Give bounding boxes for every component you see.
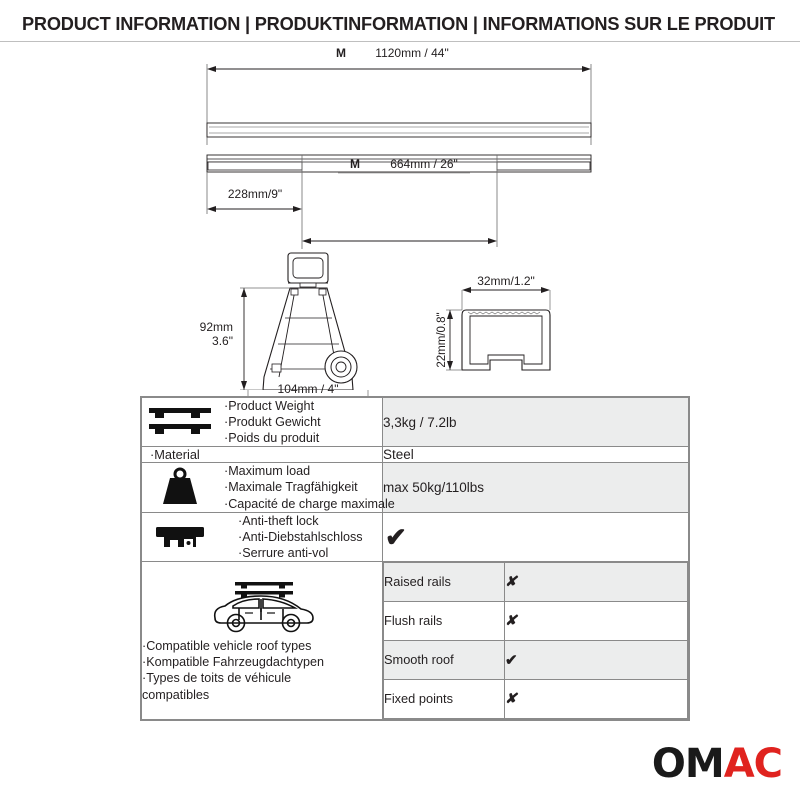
roof-type-mark: ✘ bbox=[505, 562, 688, 601]
table-row-roof-types: ·Compatible vehicle roof types ·Kompatib… bbox=[142, 561, 689, 719]
page-title: PRODUCT INFORMATION | PRODUKTINFORMATION… bbox=[22, 14, 775, 35]
label-line-fr: ·Serrure anti-vol bbox=[238, 545, 363, 561]
row-value-product-weight: 3,3kg / 7.2lb bbox=[383, 398, 689, 447]
roof-type-name: Smooth roof bbox=[384, 640, 505, 679]
roof-type-mark: ✔ bbox=[505, 640, 688, 679]
roof-type-row-fixed-points: Fixed points ✘ bbox=[384, 679, 688, 718]
technical-drawing-area: M 1120mm / 44" 228mm/9" M 664mm / 26" 92… bbox=[0, 42, 800, 390]
cross-icon: ✘ bbox=[505, 690, 517, 706]
label-text-group: ·Maximum load ·Maximale Tragfähigkeit ·C… bbox=[224, 463, 395, 511]
label-line-fr: ·Capacité de charge maximale bbox=[224, 496, 395, 512]
label-line-fr: ·Poids du produit bbox=[224, 430, 321, 446]
bar-length-prefix: M bbox=[336, 46, 346, 60]
roof-type-row-smooth-roof: Smooth roof ✔ bbox=[384, 640, 688, 679]
specification-table: ·Product Weight ·Produkt Gewicht ·Poids … bbox=[140, 396, 690, 721]
table-row: ·Anti-theft lock ·Anti-Diebstahlschloss … bbox=[142, 512, 689, 561]
crossbars-icon bbox=[142, 405, 218, 439]
roof-types-subtable-cell: Raised rails ✘ Flush rails ✘ bbox=[383, 561, 689, 719]
logo-text-ac: AC bbox=[724, 741, 782, 787]
label-line-fr: ·Types de toits de véhicule bbox=[142, 670, 382, 686]
label-line-de: ·Produkt Gewicht bbox=[224, 414, 321, 430]
roof-type-row-raised-rails: Raised rails ✘ bbox=[384, 562, 688, 601]
label-line-de: ·Kompatible Fahrzeugdachtypen bbox=[142, 654, 382, 670]
foot-offset-value: 228mm/9" bbox=[228, 187, 282, 201]
foot-height-line1: 92mm bbox=[200, 320, 233, 334]
roof-type-row-flush-rails: Flush rails ✘ bbox=[384, 601, 688, 640]
roof-type-mark: ✘ bbox=[505, 601, 688, 640]
label-line-material: ·Material bbox=[142, 447, 382, 462]
lock-icon bbox=[142, 522, 218, 552]
roof-types-label-group: ·Compatible vehicle roof types ·Kompatib… bbox=[142, 638, 382, 703]
row-value-material: Steel bbox=[383, 447, 689, 463]
header-bar: PRODUCT INFORMATION | PRODUKTINFORMATION… bbox=[0, 0, 800, 42]
bar-length-value: 1120mm / 44" bbox=[375, 46, 448, 60]
table-row: ·Maximum load ·Maximale Tragfähigkeit ·C… bbox=[142, 463, 689, 512]
label-line-en: ·Product Weight bbox=[224, 398, 321, 414]
cross-icon: ✘ bbox=[505, 573, 517, 589]
row-label-anti-theft-lock: ·Anti-theft lock ·Anti-Diebstahlschloss … bbox=[142, 512, 383, 561]
table-row: ·Material Steel bbox=[142, 447, 689, 463]
row-label-product-weight: ·Product Weight ·Produkt Gewicht ·Poids … bbox=[142, 398, 383, 447]
row-label-maximum-load: ·Maximum load ·Maximale Tragfähigkeit ·C… bbox=[142, 463, 383, 512]
label-text-group: ·Product Weight ·Produkt Gewicht ·Poids … bbox=[224, 398, 321, 446]
label-line-fr-cont: compatibles bbox=[142, 687, 382, 703]
foot-width-value: 104mm / 4" bbox=[278, 382, 339, 396]
table-row: ·Product Weight ·Produkt Gewicht ·Poids … bbox=[142, 398, 689, 447]
profile-width-value: 32mm/1.2" bbox=[477, 274, 535, 288]
row-label-roof-types: ·Compatible vehicle roof types ·Kompatib… bbox=[142, 561, 383, 719]
label-line-en: ·Anti-theft lock bbox=[238, 513, 363, 529]
roof-type-name: Fixed points bbox=[384, 679, 505, 718]
logo-text-om: OM bbox=[652, 741, 724, 787]
omac-logo: OMAC bbox=[652, 744, 782, 784]
weight-icon bbox=[142, 467, 218, 507]
roof-type-mark: ✘ bbox=[505, 679, 688, 718]
foot-height-line2: 3.6" bbox=[212, 334, 233, 348]
row-value-anti-theft-lock: ✔ bbox=[383, 512, 689, 561]
checkmark-icon: ✔ bbox=[505, 652, 518, 669]
row-value-maximum-load: max 50kg/110lbs bbox=[383, 463, 689, 512]
car-with-rack-icon bbox=[142, 578, 382, 634]
cross-icon: ✘ bbox=[505, 612, 517, 628]
label-text-group: ·Anti-theft lock ·Anti-Diebstahlschloss … bbox=[224, 513, 363, 561]
row-label-material: ·Material bbox=[142, 447, 383, 463]
roof-type-name: Raised rails bbox=[384, 562, 505, 601]
label-line-en: ·Compatible vehicle roof types bbox=[142, 638, 382, 654]
label-line-en: ·Maximum load bbox=[224, 463, 395, 479]
foot-spacing-value: 664mm / 26" bbox=[390, 157, 458, 171]
label-line-de: ·Anti-Diebstahlschloss bbox=[238, 529, 363, 545]
foot-spacing-prefix: M bbox=[350, 157, 360, 171]
label-line-de: ·Maximale Tragfähigkeit bbox=[224, 479, 395, 495]
roof-type-name: Flush rails bbox=[384, 601, 505, 640]
checkmark-icon: ✔ bbox=[383, 524, 407, 550]
technical-drawing-svg: M 1120mm / 44" 228mm/9" M 664mm / 26" 92… bbox=[0, 42, 800, 390]
profile-height-value: 22mm/0.8" bbox=[436, 312, 448, 367]
